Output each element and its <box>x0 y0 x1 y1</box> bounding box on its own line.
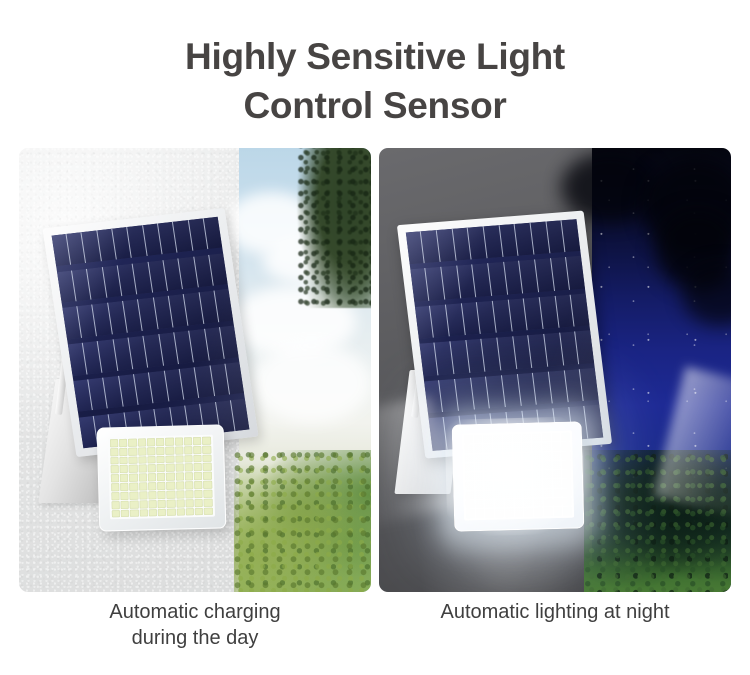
night-wall-background <box>379 148 592 592</box>
night-tree-silhouettes <box>584 450 731 592</box>
day-sky-background <box>239 148 371 592</box>
caption-night-line-1: Automatic lighting at night <box>379 600 731 626</box>
title-line-1: Highly Sensitive Light <box>0 32 750 81</box>
cloud-shape <box>252 343 371 423</box>
comparison-panels <box>19 148 731 592</box>
caption-night: Automatic lighting at night <box>379 596 731 666</box>
caption-day-line-2: during the day <box>19 626 371 652</box>
wall-texture-overlay <box>19 148 239 592</box>
day-scene-image <box>19 148 371 592</box>
caption-day: Automatic charging during the day <box>19 596 371 666</box>
panel-captions: Automatic charging during the day Automa… <box>19 596 731 666</box>
foliage-bottom <box>234 450 371 592</box>
page-title: Highly Sensitive Light Control Sensor <box>0 32 750 130</box>
caption-day-line-1: Automatic charging <box>19 600 371 626</box>
night-sky-background <box>592 148 731 592</box>
day-wall-background <box>19 148 239 592</box>
night-scene-image <box>379 148 731 592</box>
title-line-2: Control Sensor <box>0 81 750 130</box>
tree-canopy <box>297 148 371 308</box>
